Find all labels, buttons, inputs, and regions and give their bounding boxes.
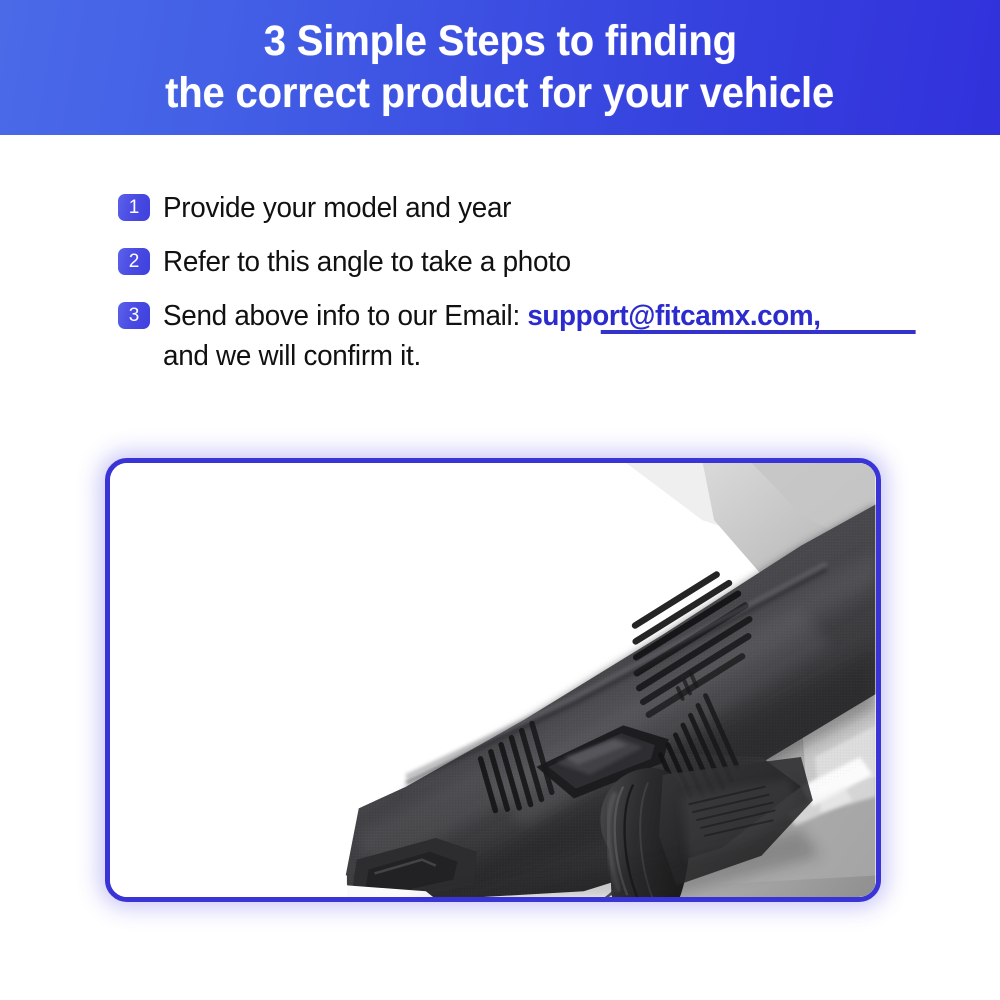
step-number-badge-2: 2 xyxy=(118,248,150,275)
step-label-3-prefix: Send above info to our Email: xyxy=(163,300,527,332)
step-item-1: 1 Provide your model and year xyxy=(118,188,918,228)
step-label-3: Send above info to our Email: support@fi… xyxy=(163,296,916,376)
step-item-3: 3 Send above info to our Email: support@… xyxy=(118,296,918,376)
mirror-mount-photo-illustration xyxy=(110,463,876,897)
header-banner: 3 Simple Steps to finding the correct pr… xyxy=(0,0,1000,135)
reference-photo xyxy=(110,463,876,897)
step-number-badge-1: 1 xyxy=(118,194,150,221)
step-item-2: 2 Refer to this angle to take a photo xyxy=(118,242,918,282)
step-label-3-tail: and we will confirm it. xyxy=(163,336,916,376)
banner-title-line-2: the correct product for your vehicle xyxy=(166,67,835,119)
step-label-1: Provide your model and year xyxy=(163,188,511,228)
banner-title-line-1: 3 Simple Steps to finding xyxy=(263,15,736,67)
step-label-2: Refer to this angle to take a photo xyxy=(163,242,571,282)
reference-photo-frame xyxy=(105,458,881,902)
step-number-badge-3: 3 xyxy=(118,302,150,329)
steps-list: 1 Provide your model and year 2 Refer to… xyxy=(118,188,918,376)
support-email-link[interactable]: support@fitcamx.com, xyxy=(527,300,820,332)
